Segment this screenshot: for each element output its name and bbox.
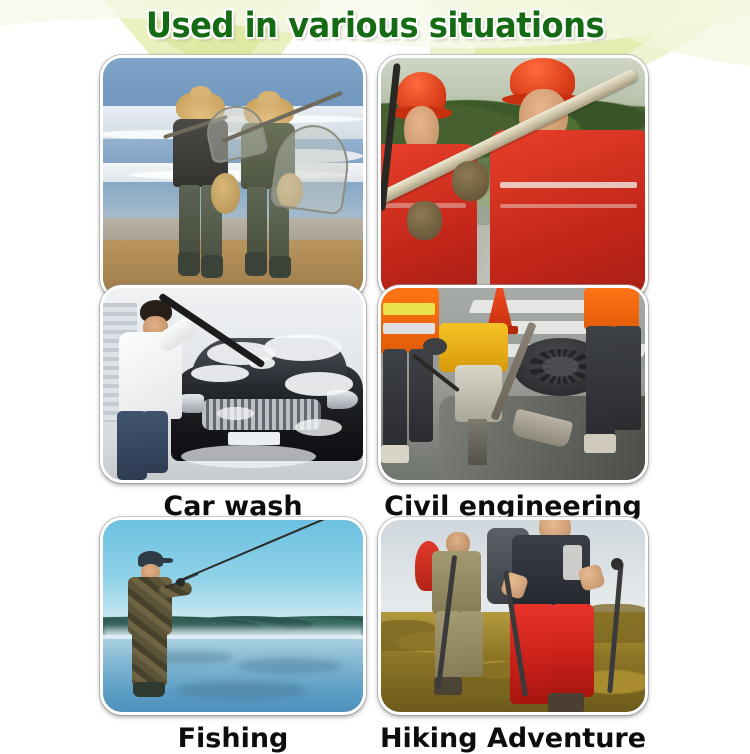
scene-petroleum xyxy=(381,58,645,297)
gallery-item-petroleum-miner[interactable]: Petroleum miner xyxy=(378,55,648,300)
image-frame-petroleum-miner xyxy=(378,55,648,300)
scene-civil xyxy=(381,288,645,480)
scene-carwash xyxy=(103,288,363,480)
situations-gallery: Aquaculture xyxy=(0,52,750,750)
gallery-item-fishing[interactable]: Fishing xyxy=(100,517,366,715)
gallery-item-car-wash[interactable]: Car wash xyxy=(100,285,366,483)
gallery-label-fishing: Fishing xyxy=(100,723,366,754)
image-frame-aquaculture xyxy=(100,55,366,300)
scene-hiking xyxy=(381,520,645,712)
gallery-label-hiking-adventure: Hiking Adventure xyxy=(378,723,648,754)
page-title-container: Used in various situations xyxy=(0,2,750,50)
gallery-item-aquaculture[interactable]: Aquaculture xyxy=(100,55,366,300)
image-frame-fishing xyxy=(100,517,366,715)
image-frame-hiking-adventure xyxy=(378,517,648,715)
image-frame-civil-engineering xyxy=(378,285,648,483)
scene-aquaculture xyxy=(103,58,363,297)
gallery-item-hiking-adventure[interactable]: Hiking Adventure xyxy=(378,517,648,715)
gallery-item-civil-engineering[interactable]: Civil engineering xyxy=(378,285,648,483)
page-title: Used in various situations xyxy=(146,6,604,46)
image-frame-car-wash xyxy=(100,285,366,483)
scene-fishing xyxy=(103,520,363,712)
